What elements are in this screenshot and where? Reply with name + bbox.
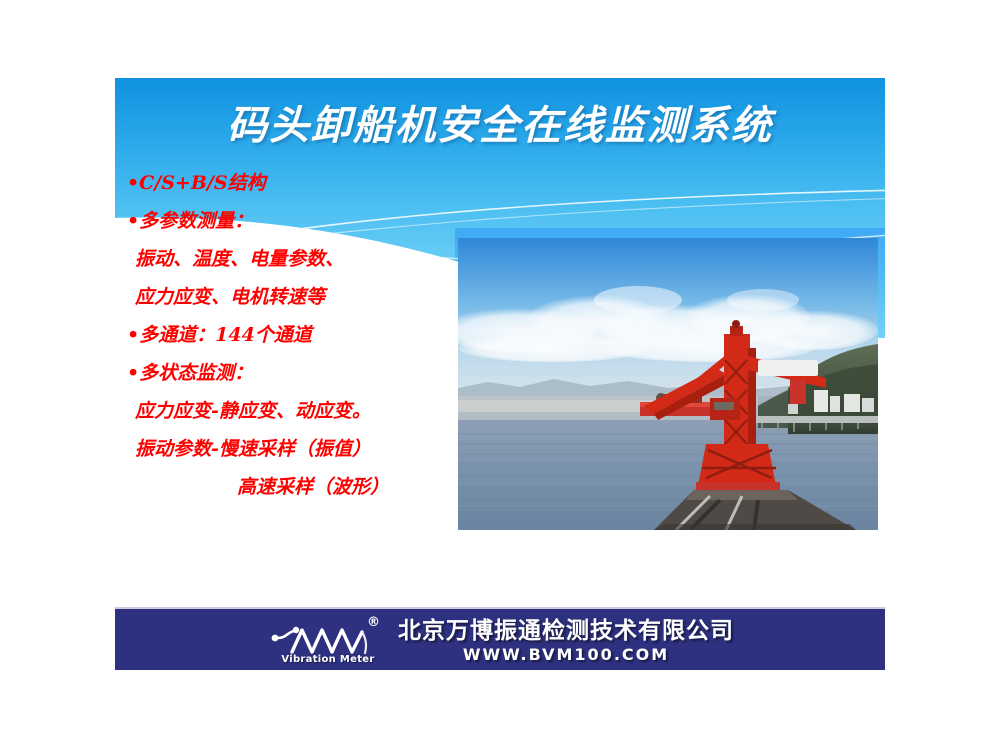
slide-root: 码头卸船机安全在线监测系统 •C/S+B/S结构 •多参数测量： 振动、温度、电… <box>0 0 1000 750</box>
logo-subtitle: Vibration Meter <box>272 654 384 665</box>
footer-content: ® Vibration Meter 北京万博振通检测技术有限公司 WWW.BVM… <box>115 609 885 670</box>
bullet-line-8: 振动参数-慢速采样（振值） <box>127 430 477 468</box>
footer-text-block: 北京万博振通检测技术有限公司 WWW.BVM100.COM <box>398 619 734 663</box>
bullet-line-5: •多通道：144个通道 <box>127 316 477 354</box>
presentation-slide: 码头卸船机安全在线监测系统 •C/S+B/S结构 •多参数测量： 振动、温度、电… <box>115 78 885 670</box>
bullet-line-9: 高速采样（波形） <box>127 468 477 506</box>
company-name: 北京万博振通检测技术有限公司 <box>398 619 734 642</box>
harbor-crane-photo <box>458 238 878 530</box>
bullet-line-7: 应力应变-静应变、动应变。 <box>127 392 477 430</box>
bullet-line-4: 应力应变、电机转速等 <box>127 278 477 316</box>
slide-title: 码头卸船机安全在线监测系统 <box>115 103 885 149</box>
bullet-line-1: •C/S+B/S结构 <box>127 164 477 202</box>
footer-bar: ® Vibration Meter 北京万博振通检测技术有限公司 WWW.BVM… <box>115 607 885 670</box>
company-website[interactable]: WWW.BVM100.COM <box>463 647 669 663</box>
bullet-list: •C/S+B/S结构 •多参数测量： 振动、温度、电量参数、 应力应变、电机转速… <box>127 164 477 506</box>
bullet-line-6: •多状态监测： <box>127 354 477 392</box>
bullet-line-3: 振动、温度、电量参数、 <box>127 240 477 278</box>
vibration-meter-logo-icon: ® Vibration Meter <box>266 616 386 666</box>
bullet-line-2: •多参数测量： <box>127 202 477 240</box>
registered-trademark-icon: ® <box>367 615 380 630</box>
